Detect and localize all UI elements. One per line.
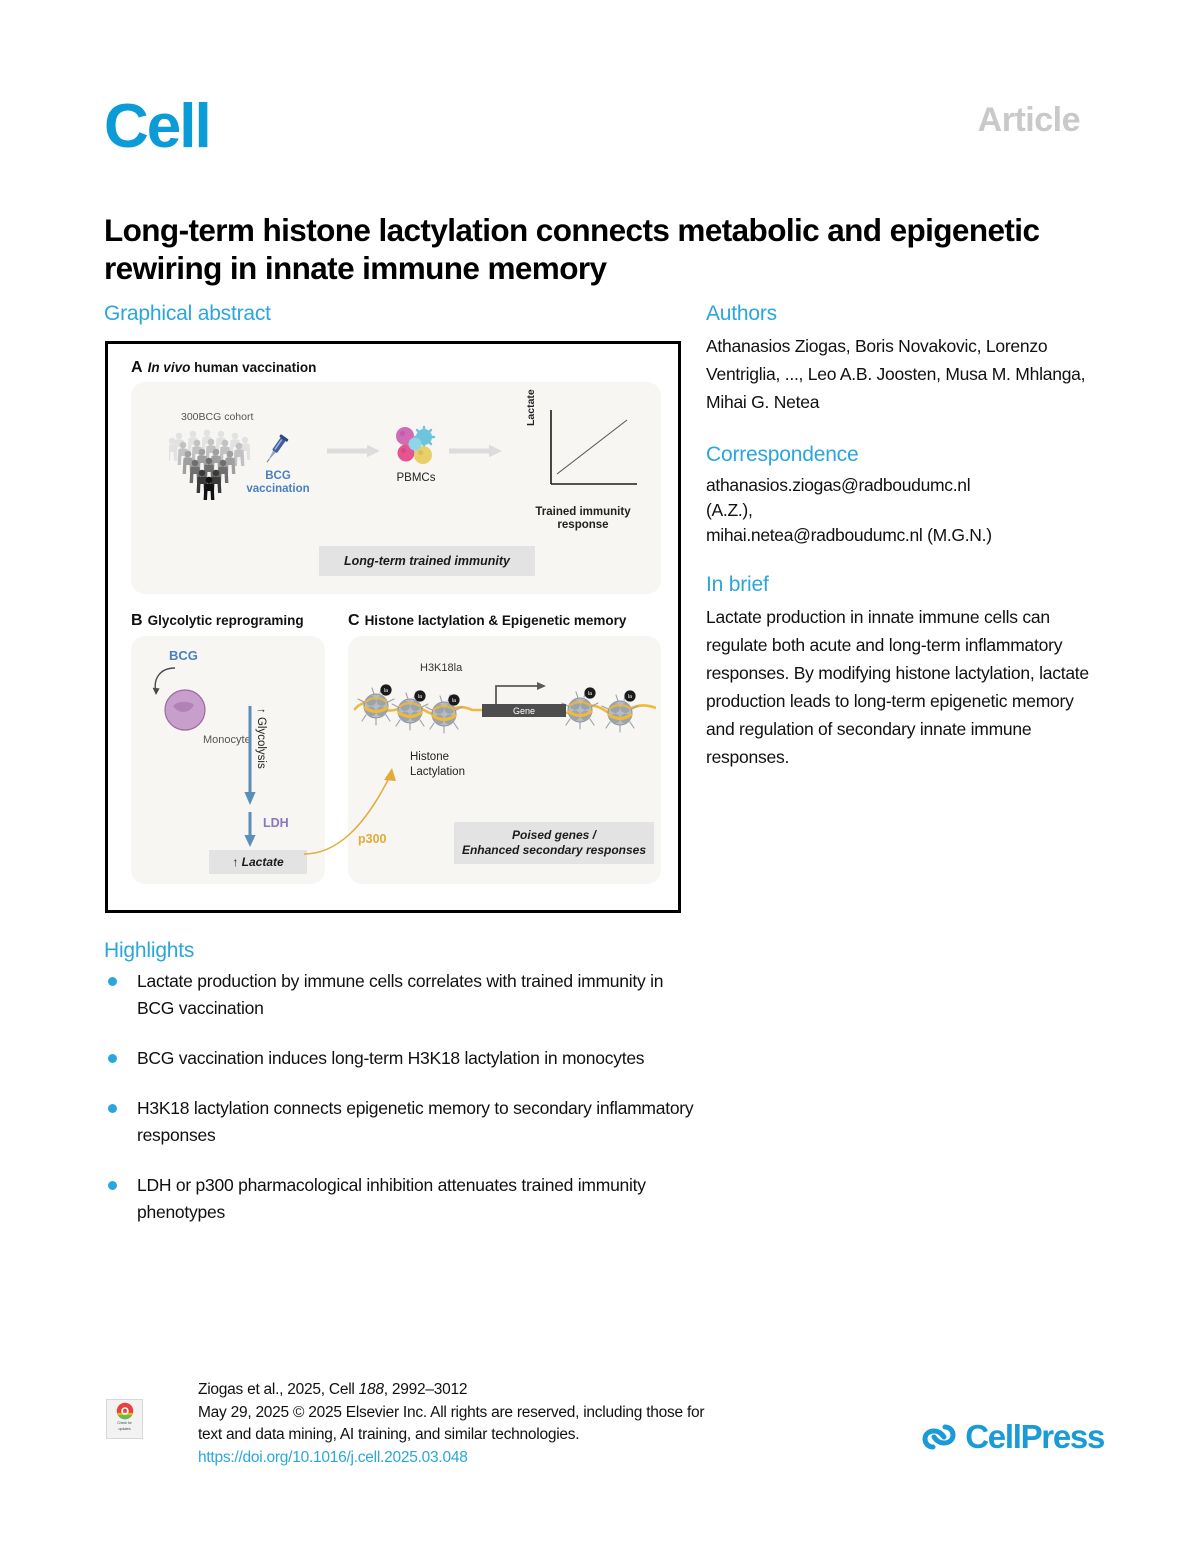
- authors-list: Athanasios Ziogas, Boris Novakovic, Lore…: [706, 332, 1086, 416]
- monocyte-cell-icon: [163, 688, 207, 732]
- flow-arrow-right-icon: [327, 444, 381, 458]
- panel-a-title-rest: human vaccination: [194, 360, 316, 375]
- bullet-icon: [108, 1181, 117, 1190]
- authors-heading: Authors: [706, 301, 777, 327]
- citation-line-1: Ziogas et al., 2025, Cell 188, 2992–3012: [198, 1379, 838, 1402]
- cellpress-mark-icon: [922, 1422, 956, 1452]
- badge-line-2: updates: [118, 1427, 130, 1432]
- citation-pre: Ziogas et al., 2025, Cell: [198, 1381, 359, 1398]
- panel-b-label: BGlycolytic reprograming: [131, 612, 304, 630]
- pbmc-label: PBMCs: [383, 472, 449, 484]
- glycolysis-text: Glycolysis: [255, 717, 267, 769]
- bcg-label: BCG: [169, 648, 198, 663]
- poised-genes-banner: Poised genes / Enhanced secondary respon…: [454, 822, 654, 864]
- panel-c-title: Histone lactylation & Epigenetic memory: [365, 613, 627, 628]
- citation-volume: 188: [359, 1381, 384, 1398]
- bcg-vaccination-label: BCG vaccination: [243, 470, 313, 496]
- plot-y-axis-label: Lactate: [525, 389, 537, 426]
- flow-arrow-right-icon-2: [449, 444, 503, 458]
- graphical-abstract-heading: Graphical abstract: [104, 301, 271, 327]
- highlight-item: LDH or p300 pharmacological inhibition a…: [104, 1172, 704, 1226]
- correspondence-email-2[interactable]: mihai.netea@radboudumc.nl (M.G.N.): [706, 523, 1096, 548]
- citation-line-3: text and data mining, AI training, and s…: [198, 1424, 838, 1447]
- poised-banner-line1: Poised genes /: [512, 828, 596, 843]
- doi-link[interactable]: https://doi.org/10.1016/j.cell.2025.03.0…: [198, 1447, 838, 1470]
- lactate-up-arrow-icon: ↑: [232, 855, 238, 869]
- lactate-banner-text: Lactate: [242, 855, 284, 869]
- page-title: Long-term histone lactylation connects m…: [104, 211, 1064, 287]
- ldh-down-arrow-icon: [243, 812, 257, 848]
- highlight-text: BCG vaccination induces long-term H3K18 …: [137, 1048, 644, 1068]
- highlight-item: Lactate production by immune cells corre…: [104, 968, 704, 1022]
- p300-label: p300: [358, 832, 387, 846]
- citation-block: Ziogas et al., 2025, Cell 188, 2992–3012…: [198, 1379, 838, 1469]
- highlights-heading: Highlights: [104, 938, 194, 964]
- gene-box-label: Gene: [513, 706, 535, 716]
- panel-a-card: 300BCG cohort: [131, 382, 661, 594]
- panel-c-card: H3K18la: [348, 636, 661, 884]
- highlights-list: Lactate production by immune cells corre…: [104, 968, 704, 1249]
- ldh-label: LDH: [263, 816, 289, 830]
- citation-line-2: May 29, 2025 © 2025 Elsevier Inc. All ri…: [198, 1402, 838, 1425]
- cellpress-wordmark: CellPress: [965, 1418, 1104, 1456]
- poised-banner-line2: Enhanced secondary responses: [462, 843, 646, 858]
- cohort-label: 300BCG cohort: [181, 411, 253, 423]
- long-term-trained-immunity-banner: Long-term trained immunity: [319, 546, 535, 576]
- cellpress-logo: CellPress: [922, 1418, 1104, 1456]
- bullet-icon: [108, 977, 117, 986]
- page-header: Cell Article: [104, 96, 1080, 168]
- graphical-abstract-figure: AIn vivo human vaccination 300BCG cohort: [105, 341, 681, 913]
- lactate-banner: ↑ Lactate: [209, 850, 307, 874]
- in-brief-text: Lactate production in innate immune cell…: [706, 603, 1096, 771]
- panel-a-label: AIn vivo human vaccination: [131, 359, 316, 377]
- crossmark-check-for-updates-badge[interactable]: Check for updates: [106, 1399, 143, 1439]
- badge-line-1: Check for: [117, 1421, 132, 1426]
- bullet-icon: [108, 1104, 117, 1113]
- syringe-icon: [259, 432, 293, 466]
- highlight-text: LDH or p300 pharmacological inhibition a…: [137, 1175, 646, 1222]
- panel-a-title-italic: In vivo: [148, 360, 191, 375]
- correspondence-heading: Correspondence: [706, 442, 858, 468]
- glycolysis-label: ↑ Glycolysis: [255, 708, 267, 769]
- in-brief-heading: In brief: [706, 572, 769, 598]
- highlight-item: BCG vaccination induces long-term H3K18 …: [104, 1045, 704, 1072]
- article-type-kicker: Article: [978, 100, 1080, 140]
- panel-a-letter: A: [131, 359, 143, 376]
- panel-b-card: BCG Monocyte ↑ Glycolysis LDH ↑ Lactate: [131, 636, 325, 884]
- h3k18la-label: H3K18la: [420, 662, 462, 674]
- correspondence-initials-1: (A.Z.),: [706, 498, 1096, 523]
- plot-x-axis-label: Trained immunity response: [517, 506, 649, 532]
- panel-b-title: Glycolytic reprograming: [148, 613, 304, 628]
- panel-c-letter: C: [348, 612, 360, 629]
- pbmc-cell-cluster-icon: [393, 424, 439, 468]
- cell-journal-logo: Cell: [104, 96, 210, 158]
- panel-b-letter: B: [131, 612, 143, 629]
- lactate-vs-trained-immunity-plot: Lactate: [527, 406, 639, 502]
- correspondence-email-1[interactable]: athanasios.ziogas@radboudumc.nl: [706, 473, 1096, 498]
- chromatin-nucleosome-diagram: la Gene: [354, 680, 656, 744]
- highlight-text: H3K18 lactylation connects epigenetic me…: [137, 1098, 693, 1145]
- panel-c-label: CHistone lactylation & Epigenetic memory: [348, 612, 626, 630]
- highlight-item: H3K18 lactylation connects epigenetic me…: [104, 1095, 704, 1149]
- plot-axes-and-line: [527, 406, 639, 502]
- highlight-text: Lactate production by immune cells corre…: [137, 971, 663, 1018]
- glycolysis-up-arrow-icon: ↑: [255, 708, 267, 714]
- crossmark-icon: [116, 1402, 134, 1420]
- citation-post: , 2992–3012: [384, 1381, 467, 1398]
- correspondence-block: athanasios.ziogas@radboudumc.nl (A.Z.), …: [706, 473, 1096, 548]
- bullet-icon: [108, 1054, 117, 1063]
